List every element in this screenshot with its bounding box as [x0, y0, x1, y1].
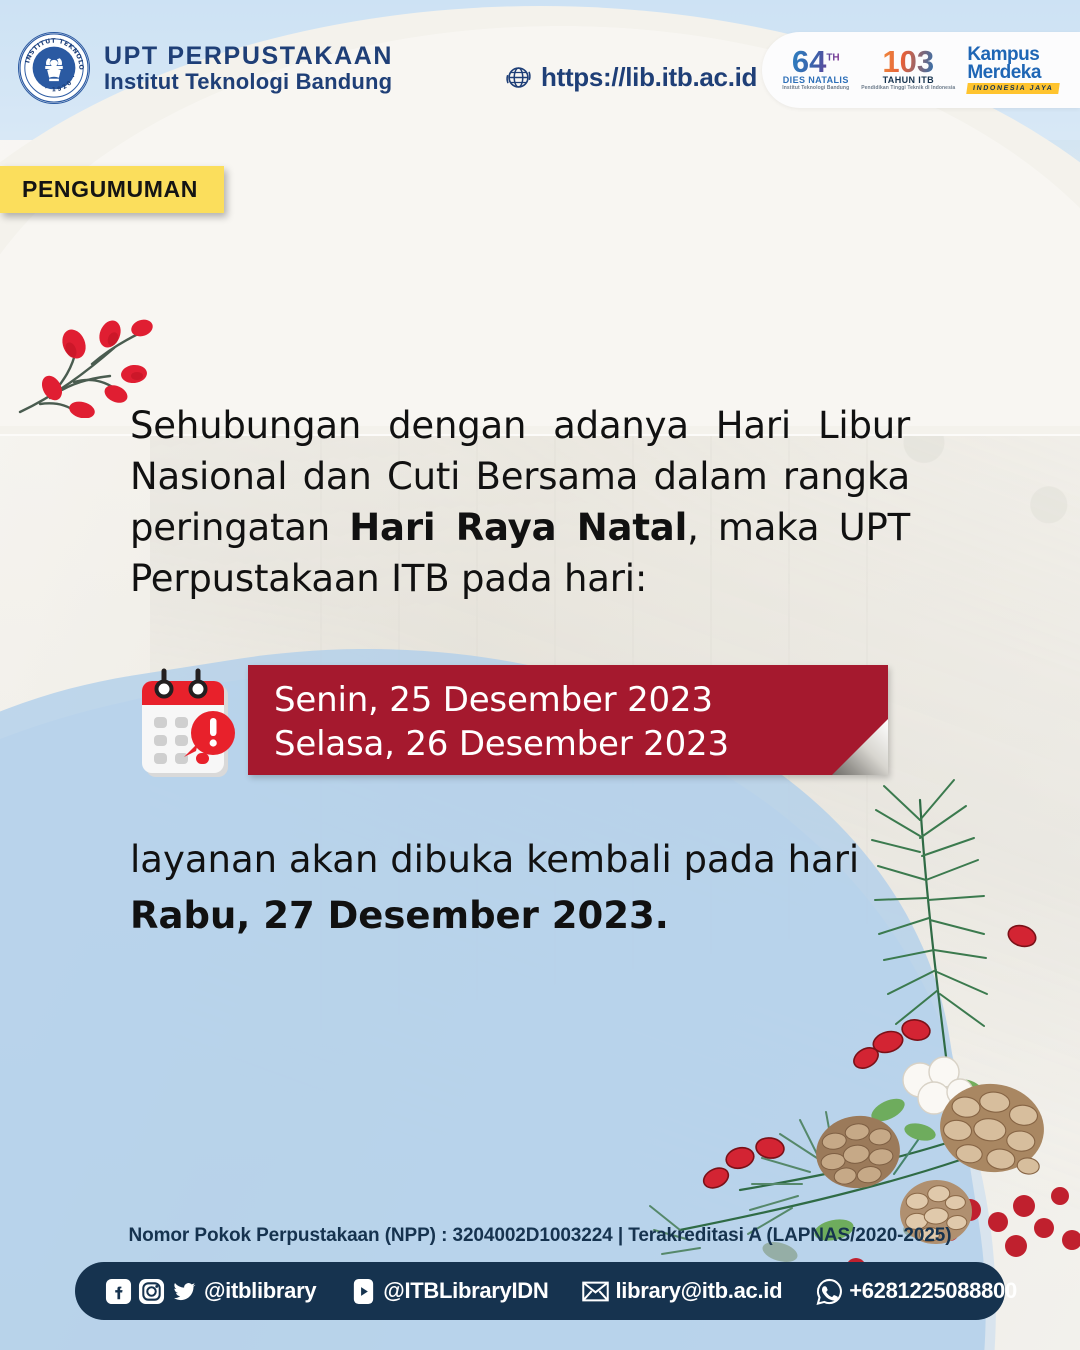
kampus-merdeka-line1: Kampus [967, 46, 1039, 63]
red-berry-sprig-decoration [14, 278, 204, 418]
partner-logos-panel: 64TH DIES NATALIS Institut Teknologi Ban… [762, 32, 1080, 108]
closure-date-line-1: Senin, 25 Desember 2023 [274, 679, 864, 723]
email-icon[interactable] [582, 1278, 609, 1305]
social-group-email[interactable]: library@itb.ac.id [582, 1278, 782, 1305]
kampus-merdeka-logo: Kampus Merdeka INDONESIA JAYA [967, 46, 1059, 93]
whatsapp-icon[interactable] [816, 1278, 843, 1305]
closure-dates-banner: Senin, 25 Desember 2023 Selasa, 26 Desem… [248, 665, 888, 775]
social-handle-youtube: @ITBLibraryIDN [383, 1278, 548, 1304]
reopen-line1: layanan akan dibuka kembali pada hari [130, 838, 859, 881]
website-url-text: https://lib.itb.ac.id [541, 62, 757, 93]
dies-natalis-ordinal: TH [826, 53, 839, 64]
announcement-body-text: Sehubungan dengan adanya Hari Libur Nasi… [130, 400, 910, 604]
social-group-youtube[interactable]: @ITBLibraryIDN [350, 1278, 548, 1305]
social-media-bar: @itblibrary @ITBLibraryIDN library@itb.a… [75, 1262, 1005, 1320]
tahun-itb-caption: TAHUN ITB [883, 75, 934, 85]
kampus-merdeka-ribbon: INDONESIA JAYA [967, 83, 1061, 94]
twitter-icon[interactable] [171, 1278, 198, 1305]
globe-icon [505, 64, 532, 91]
npp-accreditation-text: Nomor Pokok Perpustakaan (NPP) : 3204002… [0, 1225, 1080, 1247]
pengumuman-badge: PENGUMUMAN [0, 166, 224, 213]
instagram-icon[interactable] [138, 1278, 165, 1305]
tahun-itb-number: 103 [882, 49, 934, 75]
org-name-line1: UPT PERPUSTAKAAN [104, 42, 393, 70]
itb-seal-icon: INSTITUT TEKNOLOGI BANDUNG · 1920 · [18, 32, 90, 104]
reopen-text: layanan akan dibuka kembali pada hari Ra… [130, 833, 920, 942]
body-highlight: Hari Raya Natal [349, 506, 687, 549]
kampus-merdeka-line2: Merdeka [967, 64, 1041, 81]
announcement-poster: INSTITUT TEKNOLOGI BANDUNG · 1920 · UPT … [0, 0, 1080, 1350]
social-handle-email: library@itb.ac.id [615, 1278, 782, 1304]
reopen-line2: Rabu, 27 Desember 2023. [130, 889, 920, 943]
youtube-icon[interactable] [350, 1278, 377, 1305]
website-url-block[interactable]: https://lib.itb.ac.id [505, 62, 757, 93]
calendar-alert-icon [140, 665, 238, 785]
social-handle-itblibrary: @itblibrary [204, 1278, 316, 1304]
dies-natalis-sub: Institut Teknologi Bandung [782, 85, 849, 91]
social-group-instagram-facebook-twitter[interactable]: @itblibrary [105, 1278, 316, 1305]
dies-natalis-number: 64 [792, 44, 826, 79]
tahun-itb-logo: 103 TAHUN ITB Pendidikan Tinggi Teknik d… [861, 49, 955, 91]
dies-natalis-logo: 64TH DIES NATALIS Institut Teknologi Ban… [782, 49, 849, 91]
closure-dates-row: Senin, 25 Desember 2023 Selasa, 26 Desem… [140, 665, 888, 785]
organization-logo-block: INSTITUT TEKNOLOGI BANDUNG · 1920 · UPT … [18, 32, 393, 104]
tahun-itb-sub: Pendidikan Tinggi Teknik di Indonesia [861, 85, 955, 91]
social-group-whatsapp[interactable]: +6281225088800 [816, 1278, 1017, 1305]
closure-date-line-2: Selasa, 26 Desember 2023 [274, 723, 864, 767]
social-handle-whatsapp: +6281225088800 [849, 1278, 1017, 1304]
org-name-line2: Institut Teknologi Bandung [104, 70, 393, 95]
facebook-icon[interactable] [105, 1278, 132, 1305]
